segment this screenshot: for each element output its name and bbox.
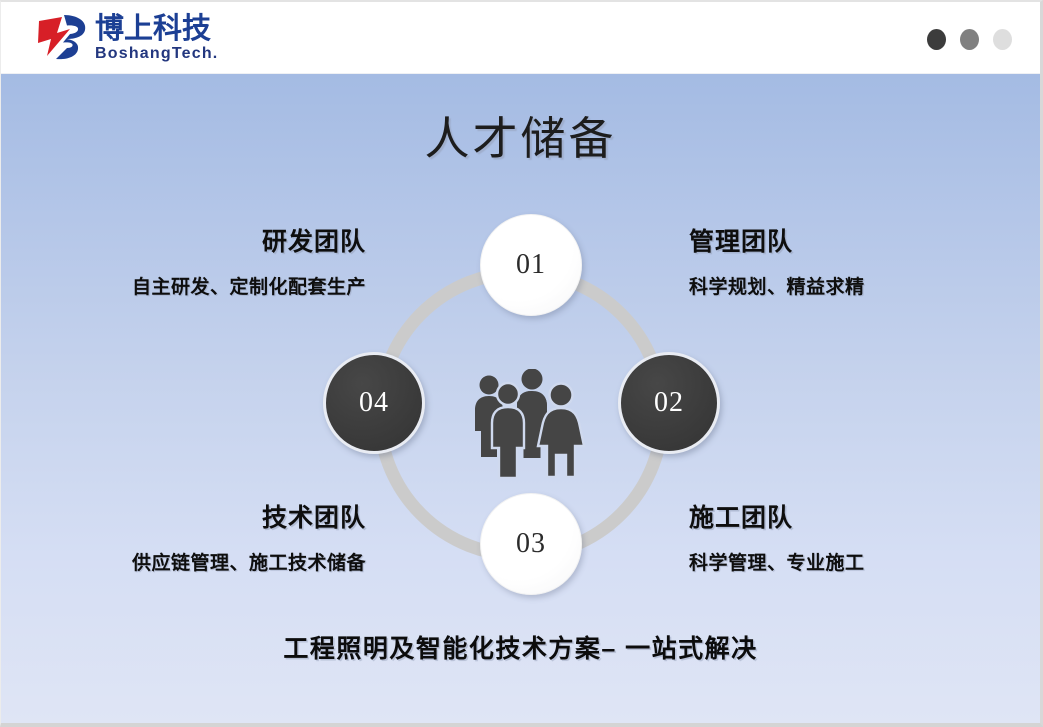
logo-mark-icon [37,12,89,62]
page-title: 人才储备 [1,102,1040,167]
company-logo: 博上科技 BoshangTech. [37,12,218,62]
diagram-node-04[interactable]: 04 [323,352,425,454]
footer-caption: 工程照明及智能化技术方案– 一站式解决 [1,629,1040,665]
dot-medium[interactable] [960,29,979,50]
logo-chinese-name: 博上科技 [95,14,218,44]
dot-dark[interactable] [927,29,946,50]
circular-diagram: 01 02 03 04 [321,214,741,614]
quadrant-top-left: 研发团队 自主研发、定制化配套生产 [36,222,366,299]
quadrant-heading-rd: 研发团队 [36,222,366,258]
presentation-slide: 博上科技 BoshangTech. 人才储备 研发团队 自主研发、定制化配套生产… [0,0,1043,727]
slide-indicator-dots [927,29,1012,50]
dot-light[interactable] [993,29,1012,50]
quadrant-heading-technology: 技术团队 [36,498,366,534]
slide-header: 博上科技 BoshangTech. [1,2,1040,74]
quadrant-subtext-rd: 自主研发、定制化配套生产 [36,272,366,299]
logo-english-name: BoshangTech. [95,46,218,62]
diagram-node-03[interactable]: 03 [480,493,582,595]
slide-canvas: 人才储备 研发团队 自主研发、定制化配套生产 管理团队 科学规划、精益求精 技术… [1,74,1040,723]
diagram-node-01[interactable]: 01 [480,214,582,316]
diagram-node-02[interactable]: 02 [618,352,720,454]
quadrant-bottom-left: 技术团队 供应链管理、施工技术储备 [36,498,366,575]
logo-text: 博上科技 BoshangTech. [95,12,218,62]
people-group-icon [466,369,596,479]
quadrant-subtext-technology: 供应链管理、施工技术储备 [36,548,366,575]
